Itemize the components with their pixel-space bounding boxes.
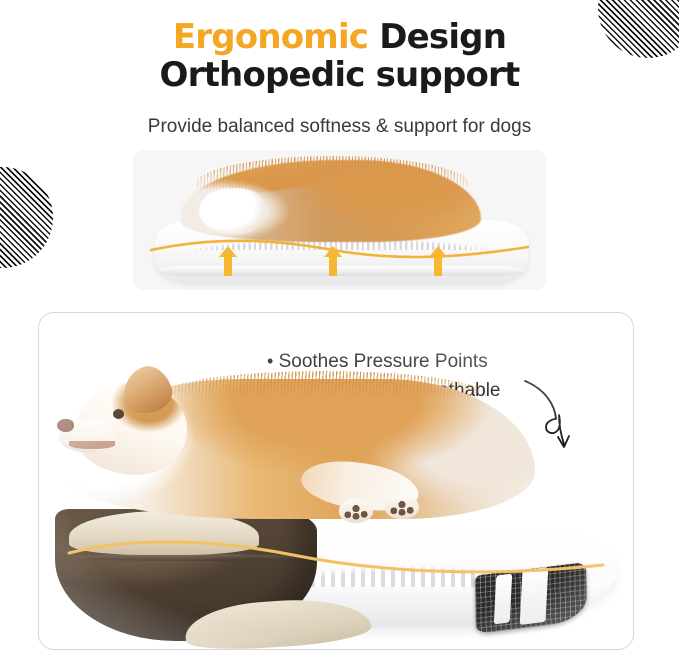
paw-pads [339,499,373,523]
paw-pads [385,495,419,519]
dog-mouth [69,441,115,449]
page-subtitle: Provide balanced softness & support for … [0,115,679,139]
bed-contour-curve [63,531,611,597]
dog-paw-rear [385,495,419,519]
hatched-circle-middle-left [0,167,53,268]
ergonomic-support-illustration [133,150,546,290]
title-line2: Orthopedic support [0,56,679,94]
dog-nose [57,419,74,432]
bullet-icon: • [267,351,273,371]
dog-back-fur [159,371,489,401]
dog-fur-texture [195,156,470,192]
callout-label: Soothes Pressure Points [279,351,488,372]
page-title: Ergonomic Design Orthopedic support [0,18,679,94]
dog-paw-front [339,499,373,523]
curved-loop-arrow-icon [519,375,581,451]
dog-bed-photo: • Soothes Pressure Points • Breathable [38,312,634,650]
title-line1-rest: Design [379,17,506,57]
support-arrow-left [219,246,237,276]
support-arrow-center [324,246,342,276]
title-accent-word: Ergonomic [173,17,368,57]
dog-eye [113,409,124,419]
headline-block: Ergonomic Design Orthopedic support [0,18,679,94]
support-arrow-right [429,246,447,276]
